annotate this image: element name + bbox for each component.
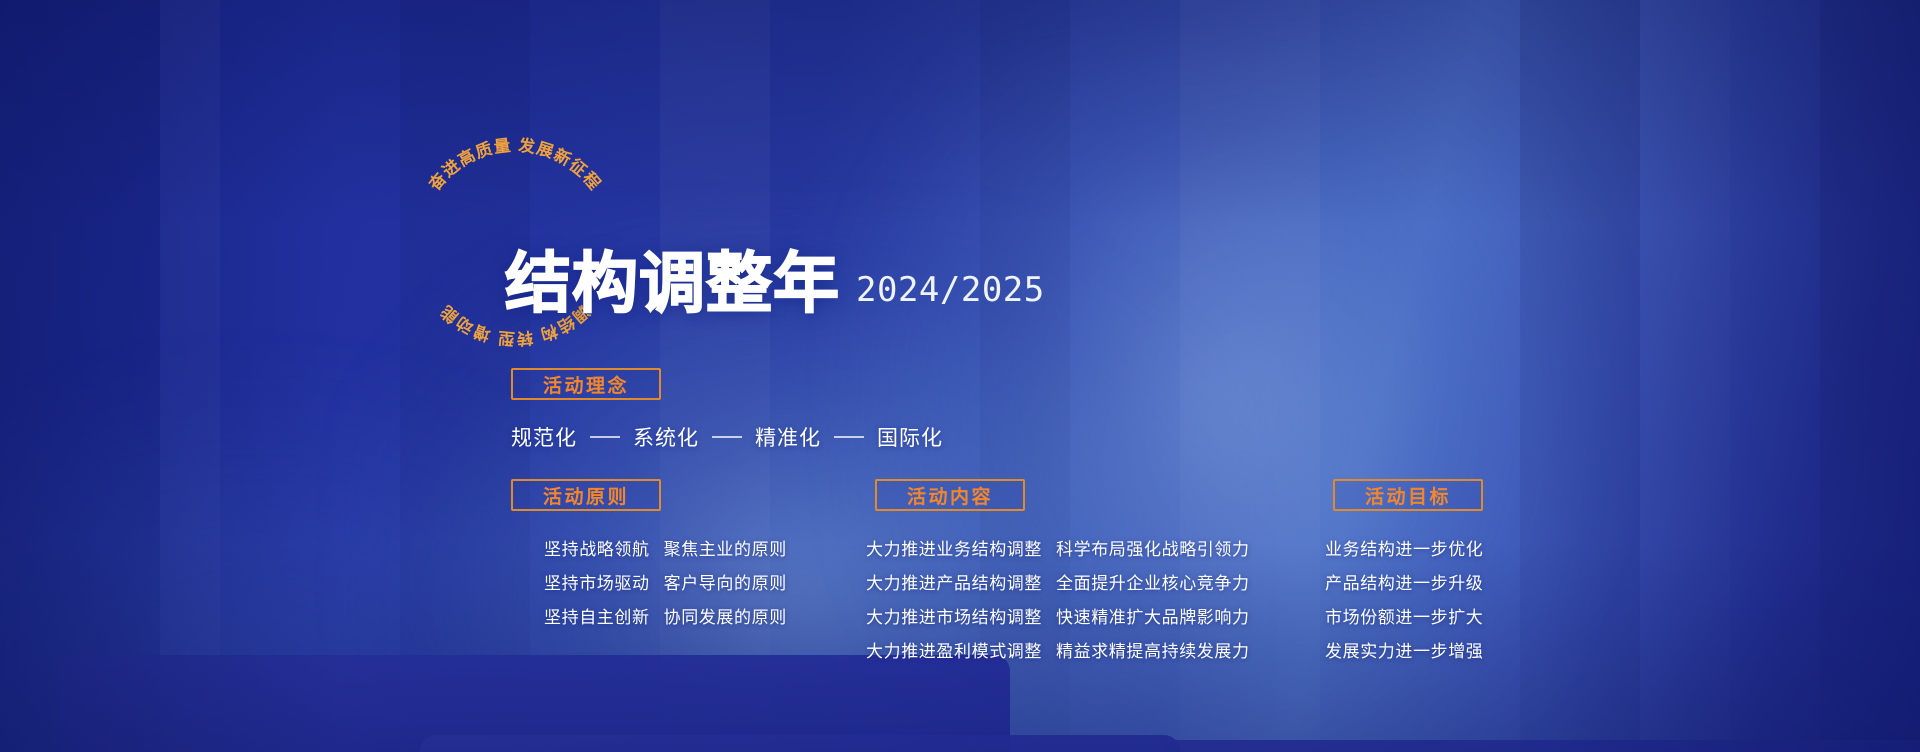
list-item-left: 业务结构进一步优化	[1325, 535, 1483, 560]
ring-top-text: 奋进高质量 发展新征程	[424, 135, 605, 195]
list-item: 大力推进市场结构调整 快速精准扩大品牌影响力	[866, 603, 1250, 628]
list-item-right: 快速精准扩大品牌影响力	[1056, 603, 1250, 628]
column-activity-content: 大力推进业务结构调整 科学布局强化战略引领力 大力推进产品结构调整 全面提升企业…	[866, 535, 1250, 662]
list-item-right: 聚焦主业的原则	[664, 535, 787, 560]
concept-keyword: 规范化	[511, 422, 577, 452]
badge-activity-concept[interactable]: 活动理念	[511, 368, 661, 400]
list-item: 坚持战略领航 聚焦主业的原则	[544, 535, 787, 560]
list-item-left: 大力推进盈利模式调整	[866, 637, 1042, 662]
list-item: 坚持市场驱动 客户导向的原则	[544, 569, 787, 594]
list-item-right: 科学布局强化战略引领力	[1056, 535, 1250, 560]
list-item: 发展实力进一步增强	[1325, 637, 1483, 662]
badge-activity-concept-label: 活动理念	[543, 371, 629, 398]
list-item-right: 精益求精提高持续发展力	[1056, 637, 1250, 662]
list-item: 大力推进盈利模式调整 精益求精提高持续发展力	[866, 637, 1250, 662]
list-item-left: 大力推进产品结构调整	[866, 569, 1042, 594]
concept-keyword: 系统化	[633, 422, 699, 452]
list-item-left: 大力推进业务结构调整	[866, 535, 1042, 560]
concept-keyword-row: 规范化 系统化 精准化 国际化	[511, 422, 943, 452]
list-item-left: 大力推进市场结构调整	[866, 603, 1042, 628]
concept-keyword: 国际化	[877, 422, 943, 452]
badge-activity-content-label: 活动内容	[907, 482, 993, 509]
badge-activity-content[interactable]: 活动内容	[875, 479, 1025, 511]
concept-keyword: 精准化	[755, 422, 821, 452]
badge-activity-principles[interactable]: 活动原则	[511, 479, 661, 511]
page-title: 结构调整年	[505, 252, 840, 317]
headline-year: 2024/2025	[856, 270, 1045, 317]
list-item: 市场份额进一步扩大	[1325, 603, 1483, 628]
column-activity-principles: 坚持战略领航 聚焦主业的原则 坚持市场驱动 客户导向的原则 坚持自主创新 协同发…	[544, 535, 787, 628]
list-item-left: 坚持战略领航	[544, 535, 650, 560]
badge-activity-goals[interactable]: 活动目标	[1333, 479, 1483, 511]
concept-separator-icon	[590, 436, 620, 438]
list-item: 坚持自主创新 协同发展的原则	[544, 603, 787, 628]
list-item-right: 全面提升企业核心竞争力	[1056, 569, 1250, 594]
list-item-left: 坚持市场驱动	[544, 569, 650, 594]
list-item: 大力推进产品结构调整 全面提升企业核心竞争力	[866, 569, 1250, 594]
list-item-left: 发展实力进一步增强	[1325, 637, 1483, 662]
concept-separator-icon	[712, 436, 742, 438]
badge-activity-principles-label: 活动原则	[543, 482, 629, 509]
headline-block: 结构调整年 2024/2025	[505, 252, 1045, 317]
list-item-left: 坚持自主创新	[544, 603, 650, 628]
list-item: 产品结构进一步升级	[1325, 569, 1483, 594]
list-item: 业务结构进一步优化	[1325, 535, 1483, 560]
list-item-left: 市场份额进一步扩大	[1325, 603, 1483, 628]
list-item-right: 协同发展的原则	[664, 603, 787, 628]
concept-separator-icon	[834, 436, 864, 438]
badge-activity-goals-label: 活动目标	[1365, 482, 1451, 509]
list-item: 大力推进业务结构调整 科学布局强化战略引领力	[866, 535, 1250, 560]
list-item-right: 客户导向的原则	[664, 569, 787, 594]
banner-canvas: 奋进高质量 发展新征程 调结构 转型 增动能 结构调整年 2024/2025 活…	[0, 0, 1920, 752]
column-activity-goals: 业务结构进一步优化 产品结构进一步升级 市场份额进一步扩大 发展实力进一步增强	[1325, 535, 1483, 662]
list-item-left: 产品结构进一步升级	[1325, 569, 1483, 594]
